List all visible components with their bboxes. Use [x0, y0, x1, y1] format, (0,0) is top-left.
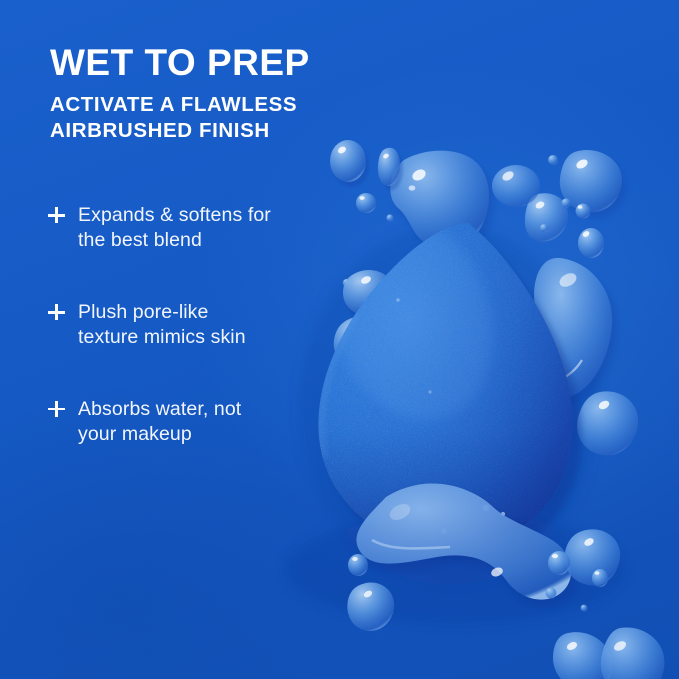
list-item-label: Absorbs water, not your makeup	[78, 397, 241, 447]
list-item-line: Absorbs water, not	[78, 397, 241, 422]
list-item-line: texture mimics skin	[78, 325, 246, 350]
list-item-line: your makeup	[78, 422, 241, 447]
subtitle: ACTIVATE A FLAWLESS AIRBRUSHED FINISH	[50, 92, 350, 144]
list-item-label: Expands & softens for the best blend	[78, 203, 271, 253]
product-feature-banner: WET TO PREP ACTIVATE A FLAWLESS AIRBRUSH…	[0, 0, 679, 679]
plus-icon	[48, 303, 65, 324]
list-item: Absorbs water, not your makeup	[48, 397, 348, 447]
plus-icon	[48, 206, 65, 227]
list-item-line: the best blend	[78, 228, 271, 253]
list-item: Plush pore-like texture mimics skin	[48, 300, 348, 350]
list-item-line: Expands & softens for	[78, 203, 271, 228]
plus-icon	[48, 400, 65, 421]
list-item-label: Plush pore-like texture mimics skin	[78, 300, 246, 350]
headline-block: WET TO PREP ACTIVATE A FLAWLESS AIRBRUSH…	[50, 44, 350, 144]
subtitle-line-1: ACTIVATE A FLAWLESS	[50, 92, 350, 118]
subtitle-line-2: AIRBRUSHED FINISH	[50, 118, 350, 144]
page-title: WET TO PREP	[50, 44, 350, 81]
list-item-line: Plush pore-like	[78, 300, 246, 325]
benefits-list: Expands & softens for the best blend Plu…	[48, 203, 348, 447]
list-item: Expands & softens for the best blend	[48, 203, 348, 253]
